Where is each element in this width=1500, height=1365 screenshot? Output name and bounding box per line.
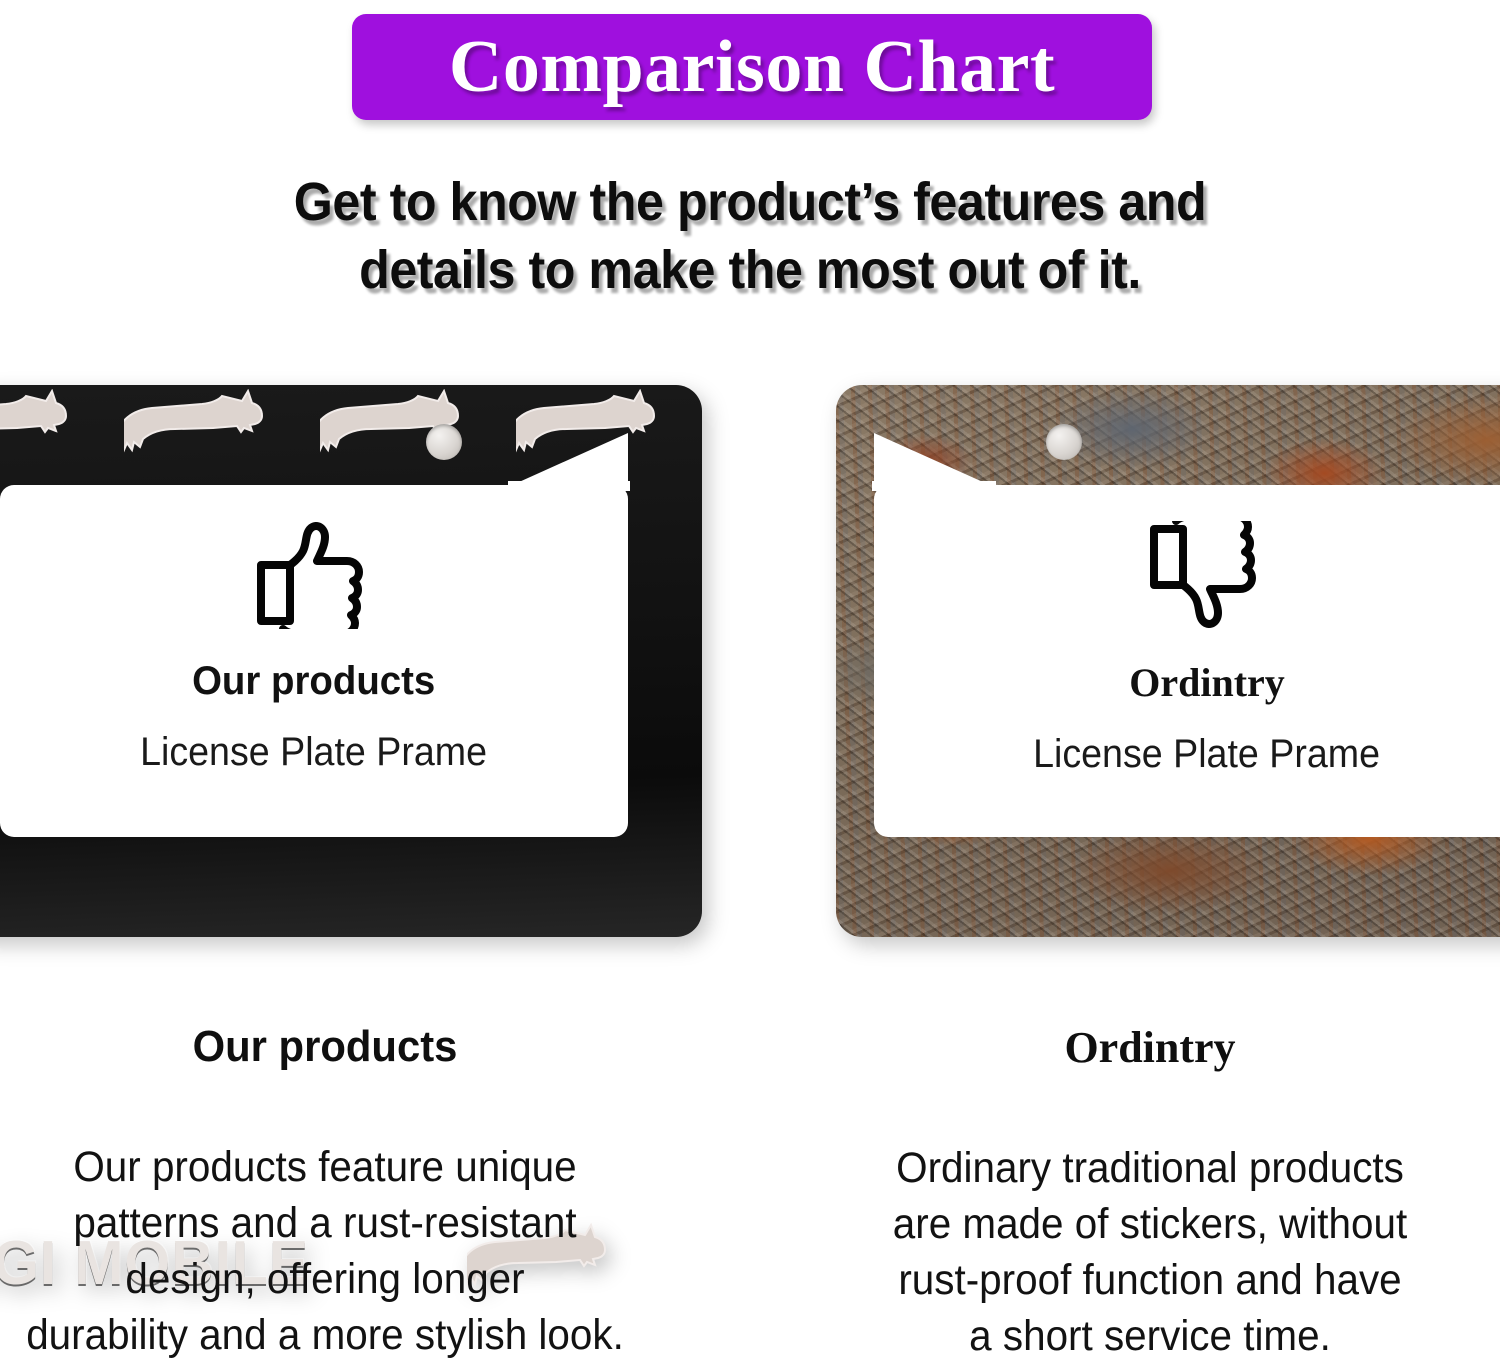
description-line: Ordinary traditional products bbox=[821, 1141, 1479, 1197]
corgi-silhouette-icon bbox=[0, 389, 68, 473]
plate-window-chamfer-fill bbox=[508, 481, 630, 491]
mounting-hole bbox=[426, 424, 462, 460]
thumbs-up-icon bbox=[255, 521, 373, 629]
our-product-window-content: Our products License Plate Prame bbox=[0, 497, 628, 775]
our-product-heading: Our products bbox=[192, 659, 435, 704]
mounting-hole bbox=[1046, 424, 1082, 460]
description-line: rust-proof function and have bbox=[821, 1253, 1479, 1309]
ordinary-product-plate-frame: Ordintry License Plate Prame bbox=[836, 385, 1500, 937]
plate-window-chamfer bbox=[508, 433, 628, 487]
description-line: are made of stickers, without bbox=[821, 1197, 1479, 1253]
our-product-plate-frame: Our products License Plate Prame RGI MOB… bbox=[0, 385, 702, 937]
subtitle-line-2: details to make the most out of it. bbox=[53, 236, 1448, 304]
description-line: patterns and a rust-resistant bbox=[0, 1196, 654, 1252]
title-banner: Comparison Chart bbox=[352, 14, 1152, 120]
ordinary-product-description-column: Ordintry Ordinary traditional products a… bbox=[800, 1022, 1500, 1365]
thumbs-down-icon bbox=[1148, 521, 1266, 629]
comparison-frames: Our products License Plate Prame RGI MOB… bbox=[0, 385, 1500, 945]
subtitle-line-1: Get to know the product’s features and bbox=[53, 168, 1448, 236]
ordinary-subheading: License Plate Prame bbox=[1034, 732, 1381, 777]
description-line: design, offering longer bbox=[0, 1252, 654, 1308]
subtitle: Get to know the product’s features and d… bbox=[53, 168, 1448, 304]
page-title: Comparison Chart bbox=[449, 30, 1055, 104]
our-product-column-body: Our products feature unique patterns and… bbox=[0, 1140, 654, 1364]
our-product-column-heading: Our products bbox=[0, 1022, 658, 1072]
plate-window-chamfer-fill bbox=[872, 481, 996, 491]
corgi-silhouette-icon bbox=[124, 389, 264, 473]
ordinary-column-heading: Ordintry bbox=[800, 1022, 1500, 1073]
plate-window-chamfer bbox=[874, 433, 994, 487]
our-product-subheading: License Plate Prame bbox=[141, 730, 488, 775]
description-line: durability and a more stylish look. bbox=[0, 1308, 654, 1364]
our-product-description-column: Our products Our products feature unique… bbox=[0, 1022, 675, 1364]
ordinary-column-body: Ordinary traditional products are made o… bbox=[821, 1141, 1479, 1365]
ordinary-heading: Ordintry bbox=[1129, 659, 1285, 706]
description-line: a short service time. bbox=[821, 1309, 1479, 1365]
ordinary-window-content: Ordintry License Plate Prame bbox=[874, 497, 1500, 777]
title-banner-background: Comparison Chart bbox=[352, 14, 1152, 120]
description-line: Our products feature unique bbox=[0, 1140, 654, 1196]
